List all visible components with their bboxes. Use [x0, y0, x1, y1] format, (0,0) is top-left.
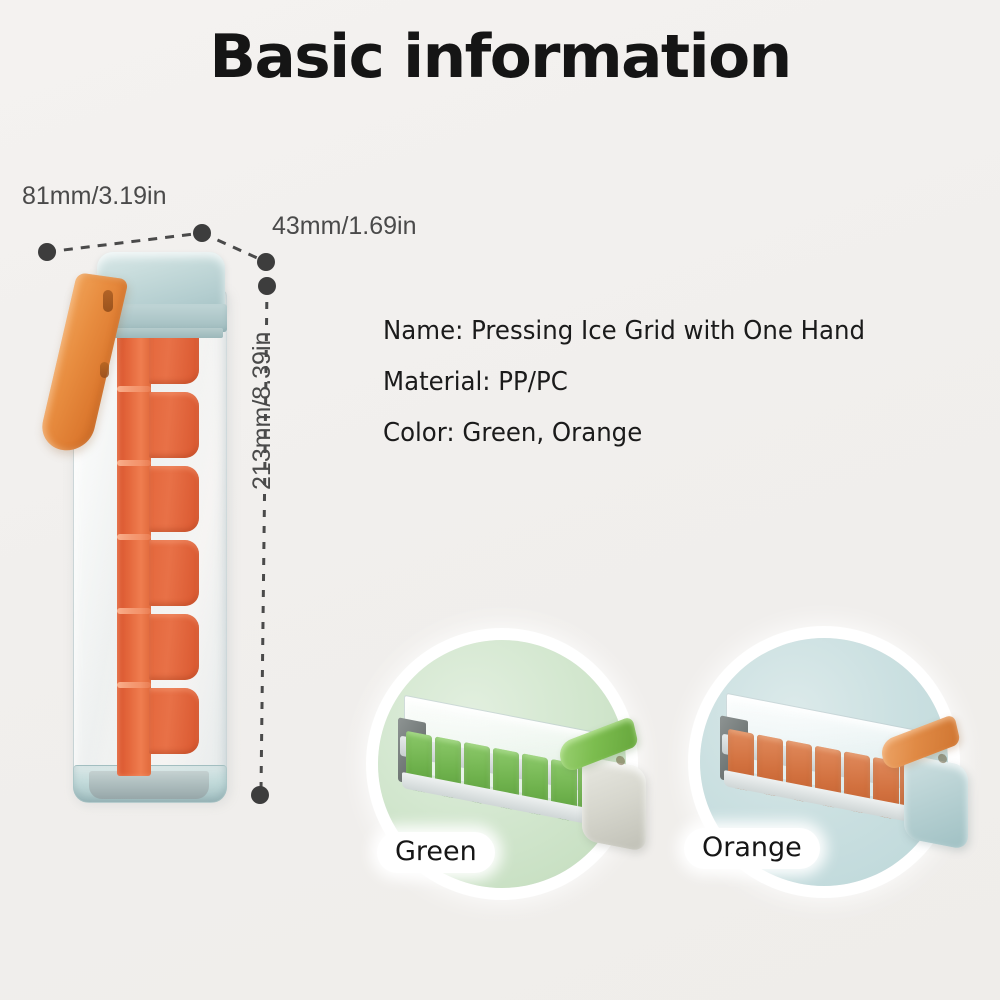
product-info-page: Basic information 81mm/3.19in 43mm/1.69i… — [0, 0, 1000, 1000]
variant-label-orange[interactable]: Orange — [684, 828, 820, 869]
tray-rib — [117, 460, 151, 466]
tray-cell — [149, 688, 199, 754]
product-main-image — [55, 252, 265, 817]
spec-line-material: Material: PP/PC — [383, 369, 985, 395]
spec-line-name: Name: Pressing Ice Grid with One Hand — [383, 318, 985, 344]
tray-end-block — [904, 754, 968, 850]
variant-tray-image — [390, 714, 642, 842]
dimension-label-width: 81mm/3.19in — [22, 182, 167, 211]
lever-pivot-hole-lower — [100, 362, 109, 378]
tray-rib — [117, 534, 151, 540]
lever-pivot-hole — [103, 290, 113, 312]
cap-ring — [99, 328, 223, 338]
tray-rib — [117, 608, 151, 614]
variant-label-green[interactable]: Green — [377, 832, 495, 873]
tray-cell — [149, 392, 199, 458]
tray-cell — [149, 614, 199, 680]
tray-cell — [149, 466, 199, 532]
tray-spine — [117, 314, 151, 776]
spec-line-color: Color: Green, Orange — [383, 420, 985, 446]
specification-list: Name: Pressing Ice Grid with One Hand Ma… — [383, 318, 1000, 471]
tray-cells — [149, 314, 199, 776]
tray-end-block — [582, 756, 646, 852]
variant-tray-image — [712, 712, 964, 840]
dimension-label-depth: 43mm/1.69in — [272, 212, 417, 241]
tray-rib — [117, 386, 151, 392]
ice-tray-insert — [117, 314, 199, 776]
page-title: Basic information — [0, 22, 1000, 92]
tray-rib — [117, 682, 151, 688]
tray-cell — [149, 540, 199, 606]
